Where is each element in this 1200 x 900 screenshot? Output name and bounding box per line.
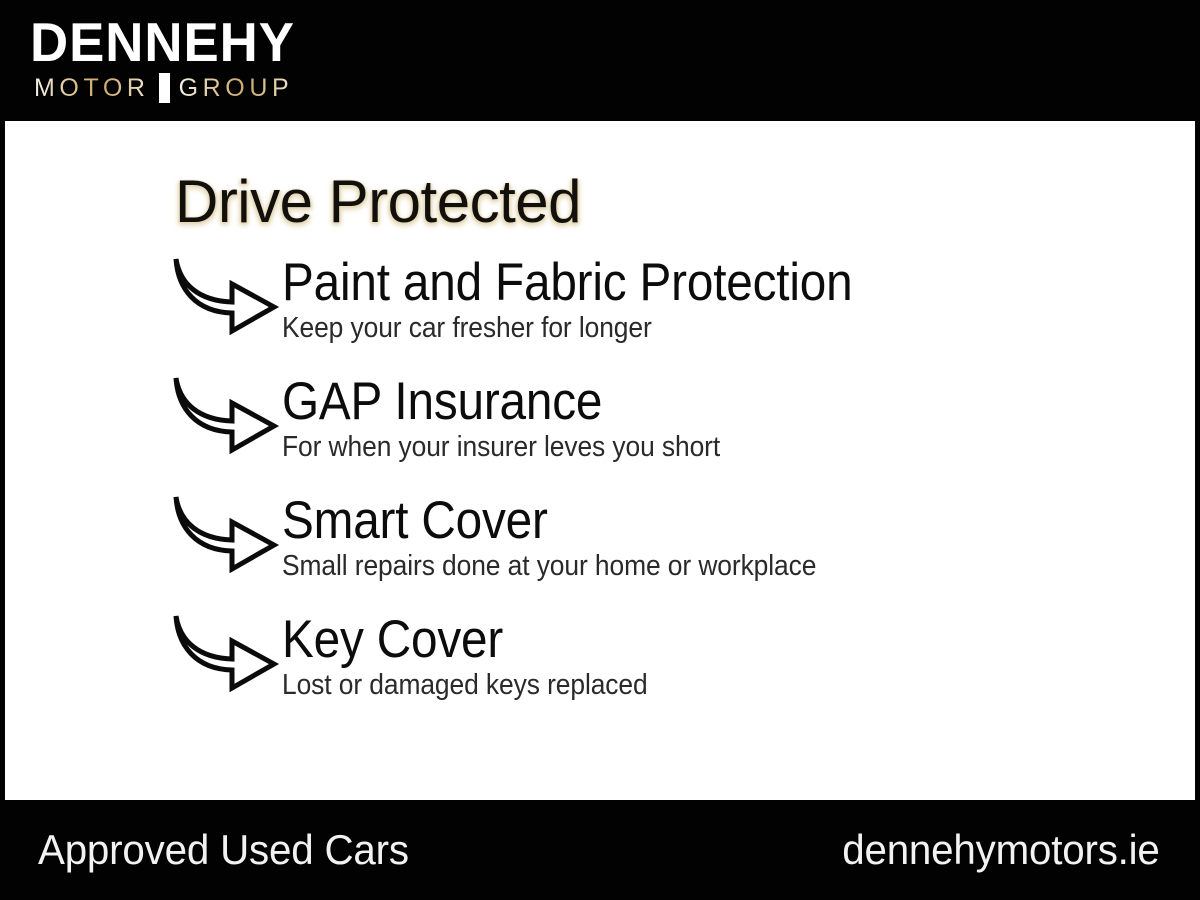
feature-title: Paint and Fabric Protection [282, 253, 853, 313]
curved-arrow-icon [170, 255, 282, 335]
list-item: Paint and Fabric Protection Keep your ca… [170, 251, 1195, 368]
header-bar: DENNEHY MOTOR GROUP [0, 0, 1200, 121]
feature-subtitle: Lost or damaged keys replaced [282, 668, 648, 702]
content-panel: Drive Protected Paint and Fabric Protect… [5, 121, 1195, 800]
logo-subtitle-motor: MOTOR [34, 75, 150, 102]
feature-title: GAP Insurance [282, 372, 715, 432]
website-url[interactable]: dennehymotors.ie [843, 827, 1160, 873]
list-item: GAP Insurance For when your insurer leve… [170, 370, 1195, 487]
feature-text: Smart Cover Small repairs done at your h… [282, 489, 869, 583]
feature-list: Paint and Fabric Protection Keep your ca… [170, 251, 1195, 725]
feature-subtitle: For when your insurer leves you short [282, 430, 720, 464]
feature-text: Key Cover Lost or damaged keys replaced [282, 608, 684, 702]
approved-used-cars-label: Approved Used Cars [38, 827, 409, 873]
feature-text: Paint and Fabric Protection Keep your ca… [282, 251, 916, 345]
curved-arrow-icon [170, 493, 282, 573]
footer-bar: Approved Used Cars dennehymotors.ie [0, 800, 1200, 900]
feature-title: Key Cover [282, 610, 644, 670]
feature-text: GAP Insurance For when your insurer leve… [282, 370, 763, 464]
feature-title: Smart Cover [282, 491, 810, 551]
dennehy-logo[interactable]: DENNEHY MOTOR GROUP [30, 14, 300, 103]
logo-wordmark: DENNEHY [30, 14, 289, 70]
logo-subtitle: MOTOR GROUP [34, 73, 300, 103]
list-item: Key Cover Lost or damaged keys replaced [170, 608, 1195, 725]
logo-subtitle-group: GROUP [179, 75, 294, 102]
page-title: Drive Protected [175, 169, 1195, 235]
panel-outer: Drive Protected Paint and Fabric Protect… [0, 121, 1200, 800]
feature-subtitle: Keep your car fresher for longer [282, 311, 859, 345]
feature-subtitle: Small repairs done at your home or workp… [282, 549, 816, 583]
logo-divider-bar [159, 73, 170, 103]
curved-arrow-icon [170, 612, 282, 692]
curved-arrow-icon [170, 374, 282, 454]
promo-banner: DENNEHY MOTOR GROUP Drive Protected [0, 0, 1200, 900]
list-item: Smart Cover Small repairs done at your h… [170, 489, 1195, 606]
